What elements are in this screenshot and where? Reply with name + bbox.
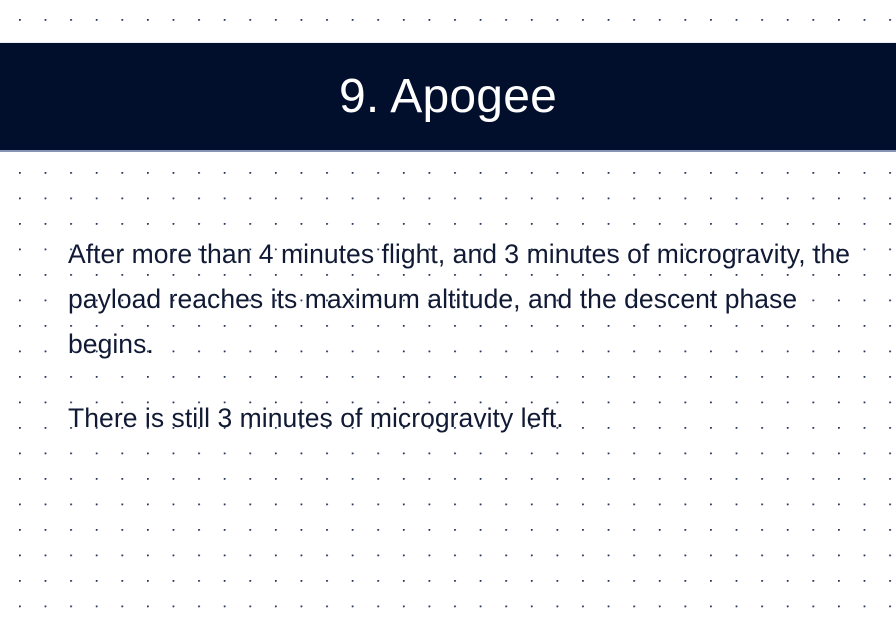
page-title: 9. Apogee — [319, 73, 577, 121]
slide-canvas: 9. Apogee After more than 4 minutes flig… — [0, 0, 896, 625]
slide-header-bar: 9. Apogee — [0, 42, 896, 152]
body-paragraph-2: There is still 3 minutes of microgravity… — [68, 396, 858, 441]
body-paragraph-1: After more than 4 minutes flight, and 3 … — [68, 232, 858, 367]
slide-body: After more than 4 minutes flight, and 3 … — [68, 232, 858, 441]
